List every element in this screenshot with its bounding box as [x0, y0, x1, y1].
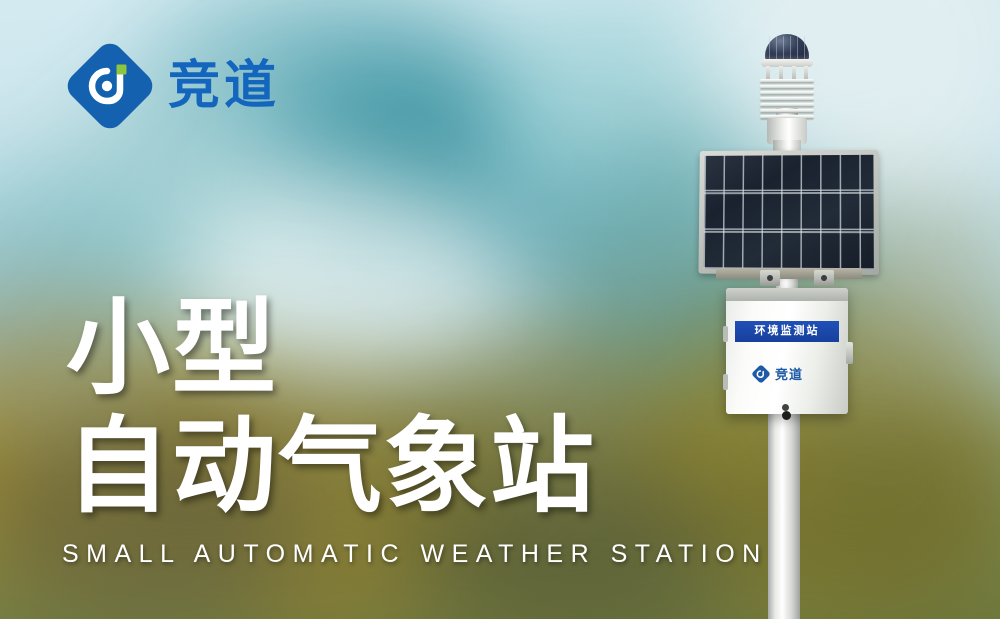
- headline-subtitle: SMALL AUTOMATIC WEATHER STATION: [62, 540, 768, 569]
- solar-panel-clamp-left: [760, 270, 780, 286]
- brand-logo: 竞道: [68, 44, 280, 128]
- solar-panel-busbars: [703, 155, 873, 270]
- controller-box-top-cover: [726, 288, 848, 301]
- solar-panel-frame: [698, 150, 879, 275]
- solar-panel-clamp-right: [814, 270, 834, 286]
- weather-station-device: 环境监测站 竞道: [640, 0, 940, 619]
- controller-box: 环境监测站 竞道: [726, 288, 848, 414]
- controller-box-label-text: 环境监测站: [755, 326, 820, 337]
- controller-box-logo-icon: [752, 365, 770, 383]
- logo-cj-glyph-icon: [68, 44, 152, 128]
- controller-box-brand-logo: 竞道: [752, 364, 803, 383]
- controller-box-logo-text: 竞道: [775, 364, 803, 383]
- sensor-dome-ribs: [765, 36, 809, 61]
- controller-box-latch: [846, 342, 853, 364]
- headline-line-2: 自动气象站: [66, 414, 596, 520]
- headline-line-1: 小型: [66, 296, 596, 402]
- headline-block: 小型 自动气象站: [66, 296, 596, 520]
- station-mast-lower: [768, 412, 800, 619]
- controller-box-screw: [782, 404, 789, 411]
- controller-box-hinge-lower: [723, 374, 728, 390]
- ultrasonic-sensor-dome-icon: [751, 34, 821, 144]
- jingdao-diamond-logo-icon: [68, 44, 152, 128]
- controller-box-hinge-upper: [723, 326, 728, 342]
- solar-panel-mount-bar: [716, 268, 862, 279]
- solar-panel-icon: [698, 150, 878, 274]
- brand-name-text: 竞道: [168, 60, 280, 112]
- sensor-support-legs: [765, 66, 809, 80]
- controller-box-logo-glyph-icon: [752, 365, 770, 383]
- mast-bolt: [782, 411, 791, 420]
- controller-box-label-band: 环境监测站: [735, 321, 839, 342]
- weather-station-product-banner: 竞道: [0, 0, 1000, 619]
- louvered-radiation-shield-icon: [760, 79, 814, 119]
